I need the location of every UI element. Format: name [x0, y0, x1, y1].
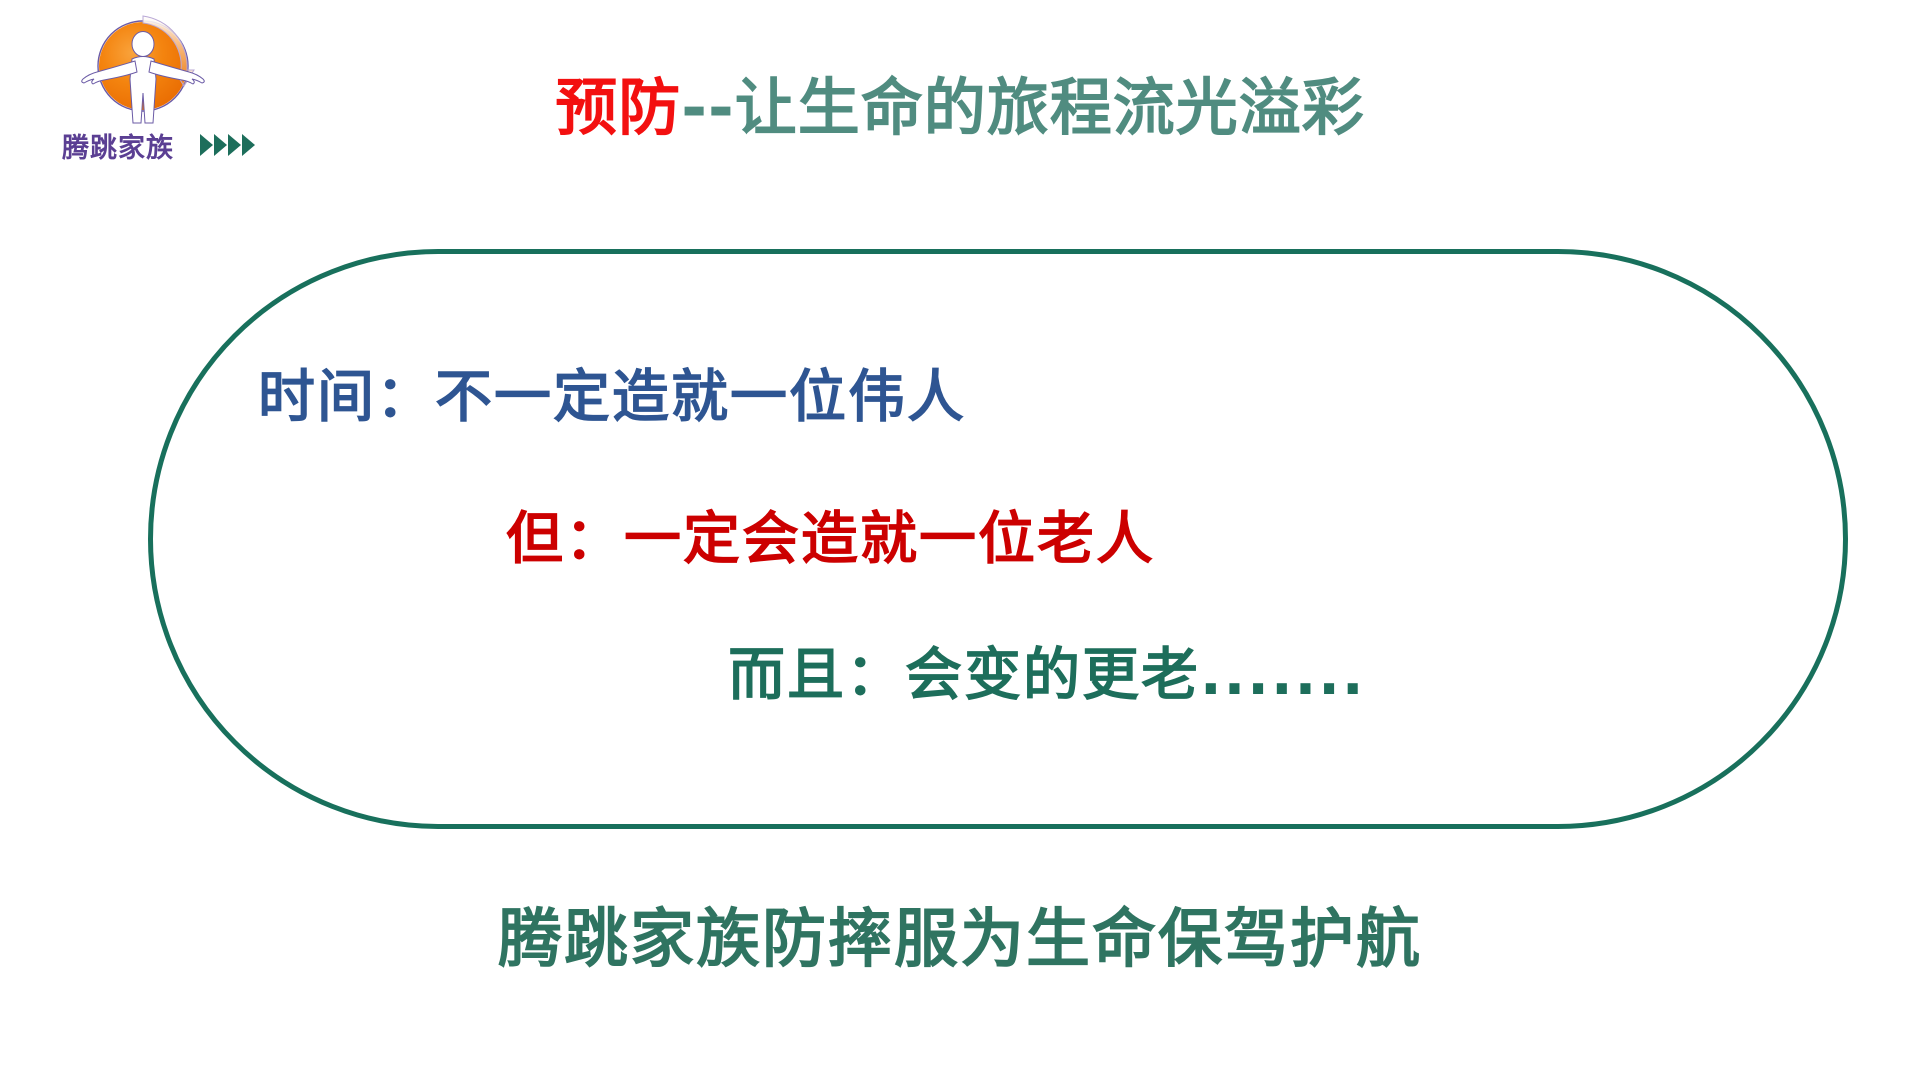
quote-line-2: 但：一定会造就一位老人 — [506, 511, 1155, 568]
quote-line-3: 而且：会变的更老....... — [728, 647, 1366, 704]
quote-line-1: 时间：不一定造就一位伟人 — [258, 369, 966, 426]
slide-canvas: 腾跳家族 预防--让生命的旅程流光溢彩 时间：不一定造就一位伟人 但：一定会造就… — [0, 0, 1920, 1080]
footer-tagline: 腾跳家族防摔服为生命保驾护航 — [0, 908, 1920, 972]
quote-block: 时间：不一定造就一位伟人 但：一定会造就一位老人 而且：会变的更老....... — [148, 249, 1848, 829]
slide-title-rest: --让生命的旅程流光溢彩 — [681, 71, 1364, 144]
slide-title-highlight: 预防 — [555, 71, 681, 144]
slide-title: 预防--让生命的旅程流光溢彩 — [0, 74, 1920, 142]
